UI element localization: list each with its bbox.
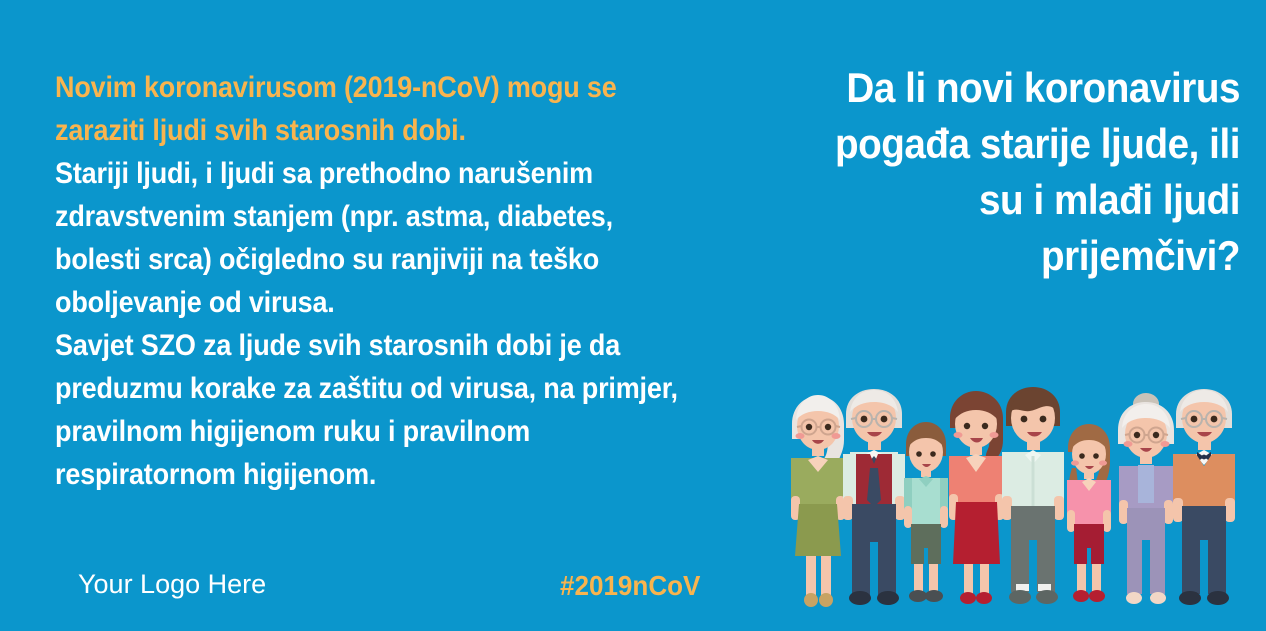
- paragraph-lead: Novim koronavirusom (2019-nCoV) mogu se …: [55, 66, 685, 152]
- figure-father: [1002, 387, 1064, 604]
- poster-canvas: Novim koronavirusom (2019-nCoV) mogu se …: [0, 0, 1266, 631]
- figure-grandfather-left: [843, 389, 905, 605]
- figure-grandmother-left: [791, 395, 845, 607]
- figure-boy: [904, 422, 948, 602]
- headline-question: Da li novi koronavirus pogađa starije lj…: [808, 60, 1240, 284]
- figure-grandmother-right: [1118, 393, 1174, 604]
- body-copy-block: Novim koronavirusom (2019-nCoV) mogu se …: [55, 66, 755, 496]
- family-group-illustration: .sk { fill:#f4c5ab; } .sk2 { fill:#f7d2b…: [784, 386, 1256, 618]
- figure-mother: [949, 391, 1004, 604]
- hashtag-label: #2019nCoV: [560, 570, 700, 602]
- paragraph-risk-groups: Stariji ljudi, i ljudi sa prethodno naru…: [55, 152, 685, 324]
- figure-grandfather-right: [1173, 389, 1235, 605]
- figure-girl: [1067, 424, 1111, 602]
- logo-placeholder: Your Logo Here: [78, 568, 266, 601]
- paragraph-who-advice: Savjet SZO za ljude svih starosnih dobi …: [55, 324, 685, 496]
